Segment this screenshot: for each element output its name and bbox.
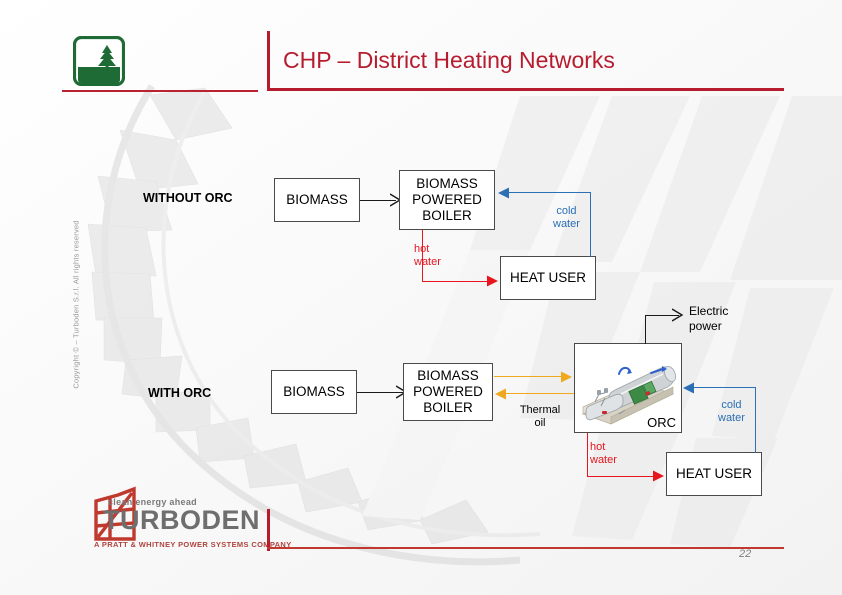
slide-canvas: CHP – District Heating Networks Copyrigh…: [0, 0, 842, 595]
title-accent-bar-vertical: [267, 31, 270, 90]
arrowhead-electric-power: [672, 308, 686, 322]
page-number: 22: [739, 548, 751, 560]
pipe-cold-water-vertical-without-orc: [590, 193, 591, 257]
logo-wordmark: TURBODEN: [103, 505, 260, 536]
page-title: CHP – District Heating Networks: [283, 47, 615, 74]
pipe-hot-water-horizontal-without-orc: [422, 281, 494, 282]
label-thermal-oil: Thermal oil: [513, 404, 567, 430]
copyright-notice: Copyright © – Turboden S.r.l. All rights…: [72, 205, 81, 405]
box-boiler-with-orc: BIOMASS POWERED BOILER: [403, 363, 493, 421]
box-heat-user-with-orc: HEAT USER: [666, 452, 762, 496]
label-cold-water-with-orc: cold water: [718, 399, 745, 425]
pipe-cold-water-horizontal-without-orc: [508, 192, 591, 193]
label-hot-water-without-orc: hot water: [414, 243, 441, 269]
footer-accent-bar-vertical: [267, 509, 270, 551]
footer-accent-bar-horizontal: [267, 547, 784, 549]
label-orc: ORC: [647, 415, 676, 430]
box-boiler-without-orc: BIOMASS POWERED BOILER: [399, 170, 495, 230]
arrowhead-hot-water-with-orc: [653, 469, 667, 483]
box-biomass-without-orc: BIOMASS: [274, 178, 360, 222]
arrowhead-thermal-oil-supply: [561, 370, 575, 384]
arrowhead-thermal-oil-return: [493, 387, 507, 401]
row-label-without-orc: WITHOUT ORC: [143, 191, 233, 205]
pipe-cold-water-vertical-with-orc: [755, 388, 756, 453]
box-heat-user-without-orc: HEAT USER: [500, 256, 596, 300]
label-cold-water-without-orc: cold water: [553, 205, 580, 231]
arrowhead-hot-water-without-orc: [487, 274, 501, 288]
pipe-hot-water-horizontal-with-orc: [587, 476, 659, 477]
forest-landscape-icon: [73, 36, 125, 86]
row-label-with-orc: WITH ORC: [148, 386, 211, 400]
arrowhead-cold-water-with-orc: [681, 381, 695, 395]
pipe-hot-water-vertical-with-orc: [587, 433, 588, 477]
pipe-cold-water-horizontal-with-orc: [692, 387, 756, 388]
box-orc-unit: ORC: [574, 343, 682, 433]
pipe-thermal-oil-supply: [494, 376, 566, 377]
arrowhead-cold-water-without-orc: [496, 186, 510, 200]
connector-electric-power-vertical: [645, 315, 646, 344]
title-accent-bar-horizontal: [267, 88, 784, 91]
label-electric-power: Electric power: [689, 304, 728, 334]
pipe-thermal-oil-return: [502, 393, 574, 394]
box-biomass-with-orc: BIOMASS: [271, 370, 357, 414]
label-hot-water-with-orc: hot water: [590, 441, 617, 467]
header-divider-rule: [62, 90, 258, 92]
logo-subtitle: A PRATT & WHITNEY POWER SYSTEMS COMPANY: [94, 540, 292, 549]
